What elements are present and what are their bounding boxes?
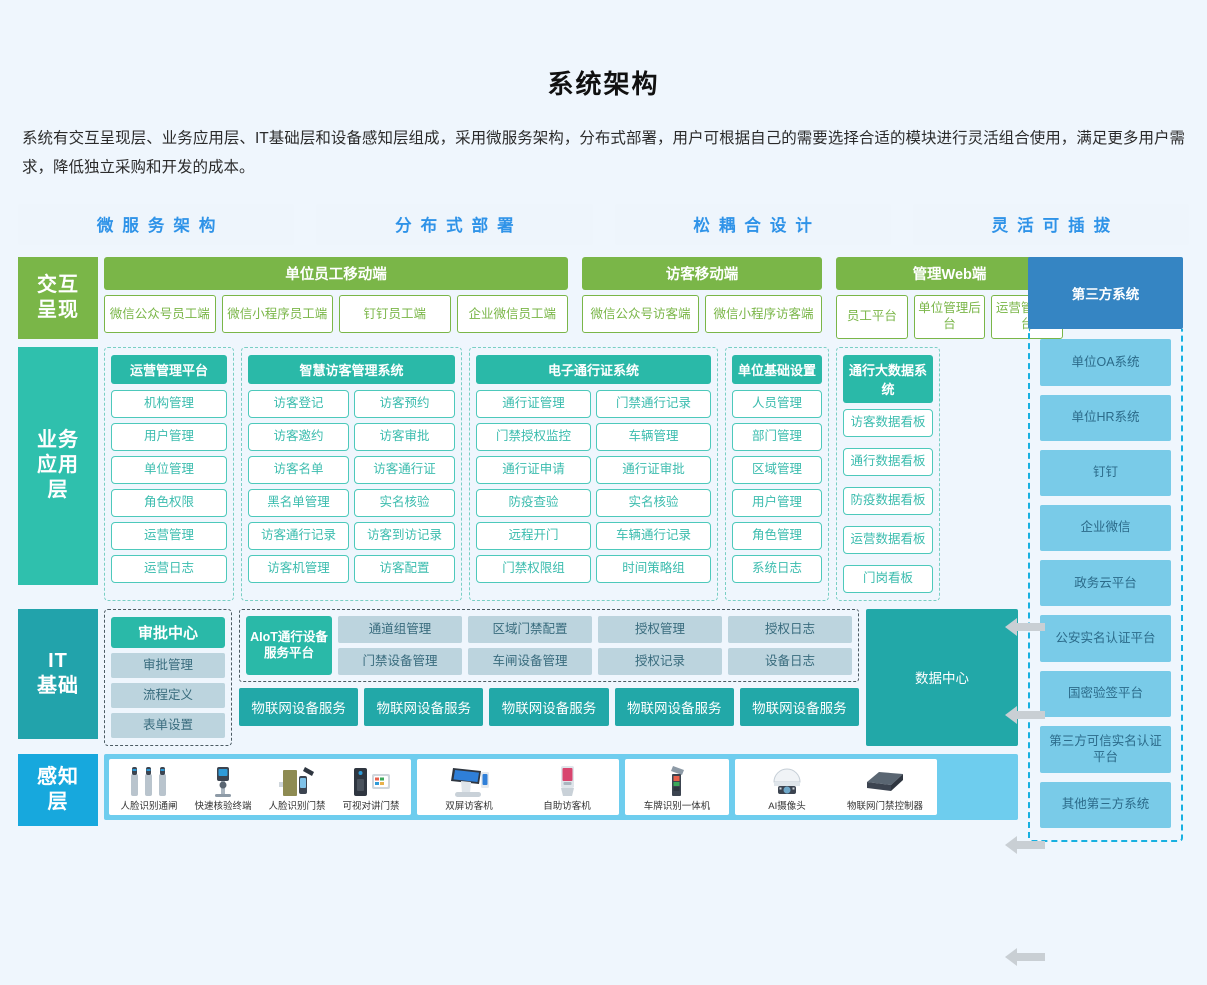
device-caption-video-intercom: 可视对讲门禁: [342, 801, 399, 812]
device-lpr-camera[interactable]: 车牌识别一体机: [629, 762, 725, 812]
module-iot-device-service-5[interactable]: 物联网设备服务: [740, 688, 859, 726]
third-party-item-police-realname[interactable]: 公安实名认证平台: [1040, 615, 1171, 661]
group-title-operation-platform: 运营管理平台: [111, 355, 227, 384]
group-approval-center: 审批中心 审批管理 流程定义 表单设置: [104, 609, 232, 746]
layer-label-business-line2: 应用: [37, 454, 79, 476]
module-barrier-device-management[interactable]: 车闸设备管理: [468, 648, 592, 675]
module-gate-post-dashboard[interactable]: 门岗看板: [843, 565, 933, 593]
connector-arrow-1: [1003, 617, 1045, 637]
module-role-permission[interactable]: 角色权限: [111, 489, 227, 517]
device-caption-turnstile-gate: 人脸识别通闸: [120, 801, 177, 812]
layer-label-sensing: 感知 层: [18, 754, 98, 826]
ai-camera-icon: [767, 762, 807, 798]
module-approval-management[interactable]: 审批管理: [111, 653, 225, 678]
third-party-column: 第三方系统 单位OA系统 单位HR系统 钉钉 企业微信 政务云平台 公安实名认证…: [1028, 257, 1183, 842]
module-device-log[interactable]: 设备日志: [728, 648, 852, 675]
page-title: 系统架构: [0, 0, 1207, 101]
module-iot-device-service-2[interactable]: 物联网设备服务: [364, 688, 483, 726]
device-caption-dual-screen-kiosk: 双屏访客机: [445, 801, 493, 812]
layer-sensing: 感知 层: [18, 754, 1018, 826]
module-iot-device-service-1[interactable]: 物联网设备服务: [239, 688, 358, 726]
module-authorization-record[interactable]: 授权记录: [598, 648, 722, 675]
module-pass-application[interactable]: 通行证申请: [476, 456, 591, 484]
module-wechat-mp-employee[interactable]: 微信公众号员工端: [104, 295, 216, 333]
module-data-center[interactable]: 数据中心: [866, 609, 1018, 746]
module-visitor-dashboard[interactable]: 访客数据看板: [843, 409, 933, 437]
third-party-item-wecom[interactable]: 企业微信: [1040, 505, 1171, 551]
group-title-smart-visitor-system: 智慧访客管理系统: [248, 355, 455, 384]
connector-arrow-2: [1003, 705, 1045, 725]
connector-arrow-3: [1003, 835, 1045, 855]
group-title-approval-center: 审批中心: [111, 617, 225, 648]
group-title-epass-system: 电子通行证系统: [476, 355, 711, 384]
module-personnel-management[interactable]: 人员管理: [732, 390, 822, 418]
third-party-item-sm-signature[interactable]: 国密验签平台: [1040, 671, 1171, 717]
feature-tag-pluggable: 灵活可插拔: [913, 204, 1189, 245]
group-bigdata-system: 通行大数据系统 访客数据看板 通行数据看板 防疫数据看板 运营数据看板 门岗看板: [836, 347, 940, 601]
device-caption-face-access-control: 人脸识别门禁: [268, 801, 325, 812]
layer-label-it-line2: 基础: [37, 675, 79, 697]
group-unit-basic-settings: 单位基础设置 人员管理 部门管理 区域管理 用户管理 角色管理 系统日志: [725, 347, 829, 601]
module-realname-verify-visitor[interactable]: 实名核验: [354, 489, 455, 517]
third-party-item-other[interactable]: 其他第三方系统: [1040, 782, 1171, 828]
group-operation-platform: 运营管理平台 机构管理 用户管理 单位管理 角色权限 运营管理 运营日志: [104, 347, 234, 601]
module-unit-role-management[interactable]: 角色管理: [732, 522, 822, 550]
module-wechat-mini-employee[interactable]: 微信小程序员工端: [222, 295, 334, 333]
connector-arrows: [1003, 505, 1047, 985]
device-caption-ai-camera: AI摄像头: [768, 801, 805, 812]
module-employee-platform[interactable]: 员工平台: [836, 295, 908, 338]
architecture-main-column: 交互 呈现 单位员工移动端 微信公众号员工端 微信小程序员工端 钉钉员工端 企业…: [18, 257, 1018, 842]
module-visitor-machine-management[interactable]: 访客机管理: [248, 555, 349, 583]
face-access-control-icon: [275, 762, 319, 798]
module-operation-management[interactable]: 运营管理: [111, 522, 227, 550]
layer-label-business-line1: 业务: [37, 429, 79, 451]
module-visitor-registration[interactable]: 访客登记: [248, 390, 349, 418]
third-party-title: 第三方系统: [1028, 257, 1183, 329]
third-party-item-hr[interactable]: 单位HR系统: [1040, 395, 1171, 441]
module-iot-device-service-3[interactable]: 物联网设备服务: [489, 688, 608, 726]
device-video-intercom[interactable]: 可视对讲门禁: [335, 762, 407, 812]
lpr-camera-icon: [660, 762, 694, 798]
intro-paragraph: 系统有交互呈现层、业务应用层、IT基础层和设备感知层组成，采用微服务架构，分布式…: [22, 125, 1185, 182]
module-time-policy-group[interactable]: 时间策略组: [596, 555, 711, 583]
layer-interaction: 交互 呈现 单位员工移动端 微信公众号员工端 微信小程序员工端 钉钉员工端 企业…: [18, 257, 1018, 338]
module-process-definition[interactable]: 流程定义: [111, 683, 225, 708]
group-title-unit-basic-settings: 单位基础设置: [732, 355, 822, 384]
device-verification-terminal[interactable]: 快速核验终端: [187, 762, 259, 812]
third-party-item-gov-cloud[interactable]: 政务云平台: [1040, 560, 1171, 606]
module-vehicle-access-record[interactable]: 车辆通行记录: [596, 522, 711, 550]
verification-terminal-icon: [208, 762, 238, 798]
module-access-auth-monitor[interactable]: 门禁授权监控: [476, 423, 591, 451]
layer-label-it-line1: IT: [48, 650, 68, 672]
module-wechat-mini-visitor[interactable]: 微信小程序访客端: [705, 295, 822, 333]
module-visitor-config[interactable]: 访客配置: [354, 555, 455, 583]
module-visitor-appointment[interactable]: 访客预约: [354, 390, 455, 418]
module-blacklist-management[interactable]: 黑名单管理: [248, 489, 349, 517]
layer-label-it: IT 基础: [18, 609, 98, 739]
device-ai-camera[interactable]: AI摄像头: [739, 762, 835, 812]
device-caption-self-service-kiosk: 自助访客机: [543, 801, 591, 812]
group-employee-mobile: 单位员工移动端 微信公众号员工端 微信小程序员工端 钉钉员工端 企业微信员工端: [104, 257, 568, 338]
third-party-item-oa[interactable]: 单位OA系统: [1040, 339, 1171, 385]
module-dingtalk-employee[interactable]: 钉钉员工端: [339, 295, 451, 333]
module-remote-door-open[interactable]: 远程开门: [476, 522, 591, 550]
device-iot-controller[interactable]: 物联网门禁控制器: [837, 762, 933, 812]
iot-device-service-row: 物联网设备服务 物联网设备服务 物联网设备服务 物联网设备服务 物联网设备服务: [239, 688, 859, 726]
module-form-settings[interactable]: 表单设置: [111, 713, 225, 738]
group-title-visitor-mobile: 访客移动端: [582, 257, 822, 290]
third-party-item-dingtalk[interactable]: 钉钉: [1040, 450, 1171, 496]
module-area-management[interactable]: 区域管理: [732, 456, 822, 484]
module-visitor-invitation[interactable]: 访客邀约: [248, 423, 349, 451]
module-visitor-approval[interactable]: 访客审批: [354, 423, 455, 451]
group-visitor-mobile: 访客移动端 微信公众号访客端 微信小程序访客端: [582, 257, 822, 338]
module-authorization-log[interactable]: 授权日志: [728, 616, 852, 643]
self-service-kiosk-icon: [552, 762, 582, 798]
video-intercom-icon: [348, 762, 394, 798]
iot-controller-icon: [861, 762, 909, 798]
module-visitor-access-record[interactable]: 访客通行记录: [248, 522, 349, 550]
module-access-dashboard[interactable]: 通行数据看板: [843, 448, 933, 476]
module-access-device-management[interactable]: 门禁设备管理: [338, 648, 462, 675]
module-visitor-visit-record[interactable]: 访客到访记录: [354, 522, 455, 550]
module-authorization-management[interactable]: 授权管理: [598, 616, 722, 643]
third-party-item-trusted-realname[interactable]: 第三方可信实名认证平台: [1040, 726, 1171, 773]
module-department-management[interactable]: 部门管理: [732, 423, 822, 451]
module-iot-device-service-4[interactable]: 物联网设备服务: [615, 688, 734, 726]
turnstile-gate-icon: [127, 762, 171, 798]
feature-tag-bar: 微服务架构 分布式部署 松耦合设计 灵活可插拔: [18, 204, 1189, 245]
third-party-list: 单位OA系统 单位HR系统 钉钉 企业微信 政务云平台 公安实名认证平台 国密验…: [1028, 329, 1183, 842]
device-self-service-kiosk[interactable]: 自助访客机: [519, 762, 615, 812]
module-epidemic-dashboard[interactable]: 防疫数据看板: [843, 487, 933, 515]
layer-label-business-line3: 层: [48, 479, 69, 501]
device-caption-iot-controller: 物联网门禁控制器: [847, 801, 923, 812]
device-group-iot: AI摄像头 物联网门禁控制器: [735, 759, 937, 815]
layer-label-interaction-line2: 呈现: [37, 299, 79, 321]
device-face-access-control[interactable]: 人脸识别门禁: [261, 762, 333, 812]
module-visitor-pass[interactable]: 访客通行证: [354, 456, 455, 484]
layer-label-business: 业务 应用 层: [18, 347, 98, 585]
device-caption-verification-terminal: 快速核验终端: [194, 801, 251, 812]
architecture-diagram: 交互 呈现 单位员工移动端 微信公众号员工端 微信小程序员工端 钉钉员工端 企业…: [18, 257, 1189, 842]
layer-label-interaction: 交互 呈现: [18, 257, 98, 338]
device-group-lpr: 车牌识别一体机: [625, 759, 729, 815]
layer-business: 业务 应用 层 运营管理平台 机构管理 用户管理 单位管理 角色权限 运营管理: [18, 347, 1018, 601]
device-dual-screen-kiosk[interactable]: 双屏访客机: [421, 762, 517, 812]
connector-arrow-4: [1003, 947, 1045, 967]
module-vehicle-management[interactable]: 车辆管理: [596, 423, 711, 451]
group-smart-visitor-system: 智慧访客管理系统 访客登记 访客预约 访客邀约 访客审批 访客名单 访客通行证 …: [241, 347, 462, 601]
device-group-access: 人脸识别通闸: [109, 759, 411, 815]
module-access-record[interactable]: 门禁通行记录: [596, 390, 711, 418]
aiot-platform-badge: AIoT通行设备服务平台: [246, 616, 332, 675]
module-area-access-config[interactable]: 区域门禁配置: [468, 616, 592, 643]
layer-label-sensing-line2: 层: [48, 791, 69, 813]
layer-label-interaction-line1: 交互: [37, 274, 79, 296]
module-pass-approval[interactable]: 通行证审批: [596, 456, 711, 484]
feature-tag-microservice: 微服务架构: [18, 204, 294, 245]
module-pass-management[interactable]: 通行证管理: [476, 390, 591, 418]
module-access-permission-group[interactable]: 门禁权限组: [476, 555, 591, 583]
layer-it-foundation: IT 基础 审批中心 审批管理 流程定义 表单设置 AIoT通行设备服务平台: [18, 609, 1018, 746]
module-unit-management[interactable]: 单位管理: [111, 456, 227, 484]
feature-tag-loose-coupling: 松耦合设计: [615, 204, 891, 245]
module-operation-log[interactable]: 运营日志: [111, 555, 227, 583]
module-channel-group-management[interactable]: 通道组管理: [338, 616, 462, 643]
device-caption-lpr-camera: 车牌识别一体机: [644, 801, 711, 812]
module-wecom-employee[interactable]: 企业微信员工端: [457, 295, 569, 333]
group-epass-system: 电子通行证系统 通行证管理 门禁通行记录 门禁授权监控 车辆管理 通行证申请 通…: [469, 347, 718, 601]
feature-tag-distributed: 分布式部署: [316, 204, 592, 245]
module-unit-admin-console[interactable]: 单位管理后台: [914, 295, 986, 338]
layer-label-sensing-line1: 感知: [37, 766, 79, 788]
group-title-bigdata-system: 通行大数据系统: [843, 355, 933, 403]
module-wechat-mp-visitor[interactable]: 微信公众号访客端: [582, 295, 699, 333]
module-unit-user-management[interactable]: 用户管理: [732, 489, 822, 517]
group-aiot-platform: AIoT通行设备服务平台 通道组管理 门禁设备管理 区域门禁配置 车闸设备管理: [239, 609, 859, 682]
module-visitor-list[interactable]: 访客名单: [248, 456, 349, 484]
module-system-log[interactable]: 系统日志: [732, 555, 822, 583]
group-title-employee-mobile: 单位员工移动端: [104, 257, 568, 290]
dual-screen-kiosk-icon: [443, 762, 495, 798]
module-org-management[interactable]: 机构管理: [111, 390, 227, 418]
module-operation-dashboard[interactable]: 运营数据看板: [843, 526, 933, 554]
device-turnstile-gate[interactable]: 人脸识别通闸: [113, 762, 185, 812]
module-user-management[interactable]: 用户管理: [111, 423, 227, 451]
module-epidemic-check[interactable]: 防疫查验: [476, 489, 591, 517]
module-realname-verify-pass[interactable]: 实名核验: [596, 489, 711, 517]
device-group-kiosk: 双屏访客机 自助访客机: [417, 759, 619, 815]
